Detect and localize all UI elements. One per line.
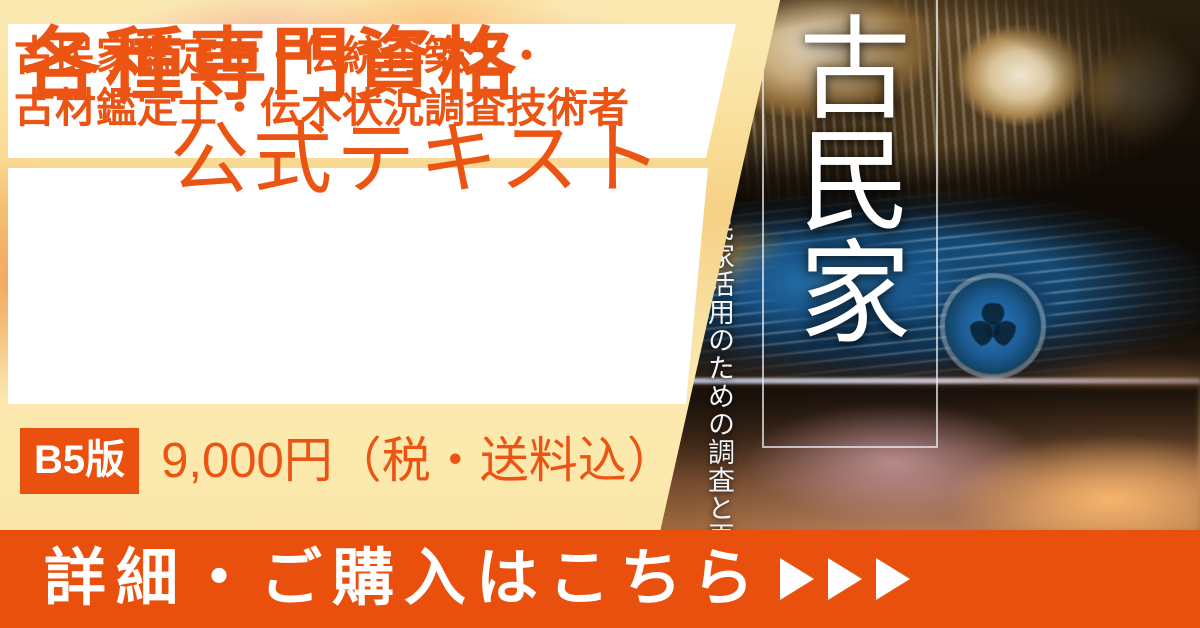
triangle-right-icon [876, 558, 910, 600]
price-row: B5版 9,000円（税・送料込） [20, 428, 676, 494]
family-crest-medallion [945, 278, 1041, 374]
cta-label: 詳細・ご購入はこちら [44, 544, 764, 614]
triangle-right-icon [828, 558, 862, 600]
product-title-line-1: 各種専門資格 [22, 22, 520, 108]
cta-bar[interactable]: 詳細・ご購入はこちら [0, 530, 1200, 628]
product-card [8, 168, 708, 404]
product-title-line-2: 公式テキスト [170, 116, 666, 202]
book-cover-title: 古民家 [790, 10, 908, 346]
cta-arrows [780, 558, 910, 600]
triangle-right-icon [780, 558, 814, 600]
format-badge: B5版 [20, 428, 139, 494]
promo-banner: 古民家 伝統構法、古民家活用のための調査と再生の 古民家鑑定士・伝統再築士・ 古… [0, 0, 1200, 628]
price-text: 9,000円（税・送料込） [161, 433, 676, 489]
